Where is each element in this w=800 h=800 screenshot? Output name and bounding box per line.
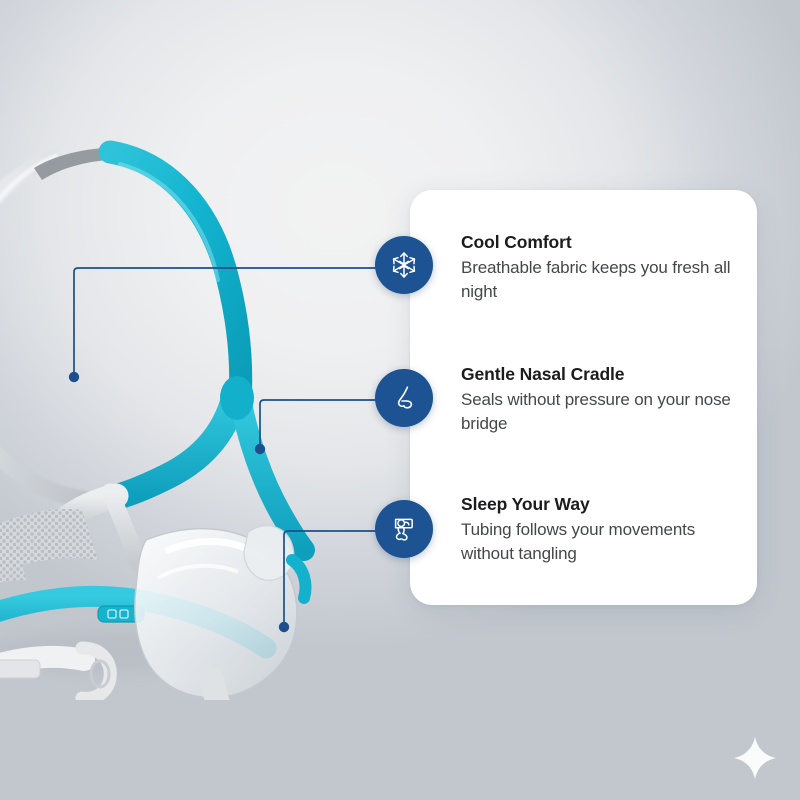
snowflake-icon — [389, 250, 419, 280]
feature-badge-sleep-your-way — [375, 500, 433, 558]
product-image — [0, 140, 380, 700]
feature-description: Seals without pressure on your nose brid… — [461, 388, 747, 436]
sleeping-person-icon — [389, 514, 419, 544]
feature-description: Tubing follows your movements without ta… — [461, 518, 747, 566]
feature-text-block: Sleep Your Way Tubing follows your movem… — [461, 494, 747, 566]
feature-title: Sleep Your Way — [461, 494, 747, 516]
feature-text-block: Gentle Nasal Cradle Seals without pressu… — [461, 364, 747, 436]
features-card: Cool Comfort Breathable fabric keeps you… — [410, 190, 757, 605]
feature-description: Breathable fabric keeps you fresh all ni… — [461, 256, 747, 304]
feature-text-block: Cool Comfort Breathable fabric keeps you… — [461, 232, 747, 304]
feature-item-cool-comfort: Cool Comfort Breathable fabric keeps you… — [410, 232, 757, 304]
feature-title: Gentle Nasal Cradle — [461, 364, 747, 386]
nose-icon — [389, 383, 419, 413]
sparkle-icon — [731, 734, 779, 782]
feature-item-gentle-nasal-cradle: Gentle Nasal Cradle Seals without pressu… — [410, 364, 757, 436]
feature-item-sleep-your-way: Sleep Your Way Tubing follows your movem… — [410, 494, 757, 566]
feature-title: Cool Comfort — [461, 232, 747, 254]
callout-canvas: Cool Comfort Breathable fabric keeps you… — [0, 0, 800, 800]
feature-badge-cool-comfort — [375, 236, 433, 294]
feature-badge-gentle-nasal-cradle — [375, 369, 433, 427]
